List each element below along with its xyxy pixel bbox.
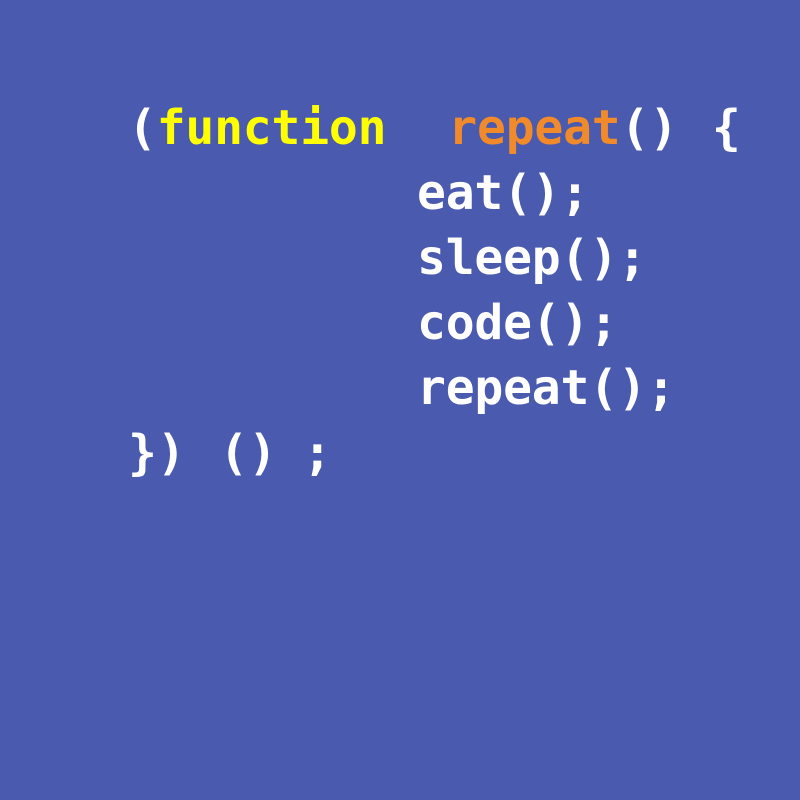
code-token-plain: code(); [417,295,618,351]
code-line: })(); [0,421,800,486]
code-token-punct: }) [128,425,185,481]
code-token-punct: ; [303,425,332,481]
code-line: eat(); [0,161,800,226]
code-line: repeat(); [0,356,800,421]
code-token-keyword: function [157,100,387,156]
code-token-plain: sleep(); [417,230,647,286]
code-line: code(); [0,291,800,356]
code-line: sleep(); [0,226,800,291]
code-token-punct: ( [128,100,157,156]
code-token-punct: { [712,100,741,156]
code-block: (functionrepeat(){eat();sleep();code();r… [0,0,800,486]
code-token-plain: eat(); [417,165,589,221]
code-token-punct: () [219,425,276,481]
code-token-plain: repeat(); [417,360,675,416]
code-token-punct: () [621,100,678,156]
code-line: (functionrepeat(){ [0,96,800,161]
code-snippet-canvas: (functionrepeat(){eat();sleep();code();r… [0,0,800,800]
code-token-fnname: repeat [448,100,620,156]
